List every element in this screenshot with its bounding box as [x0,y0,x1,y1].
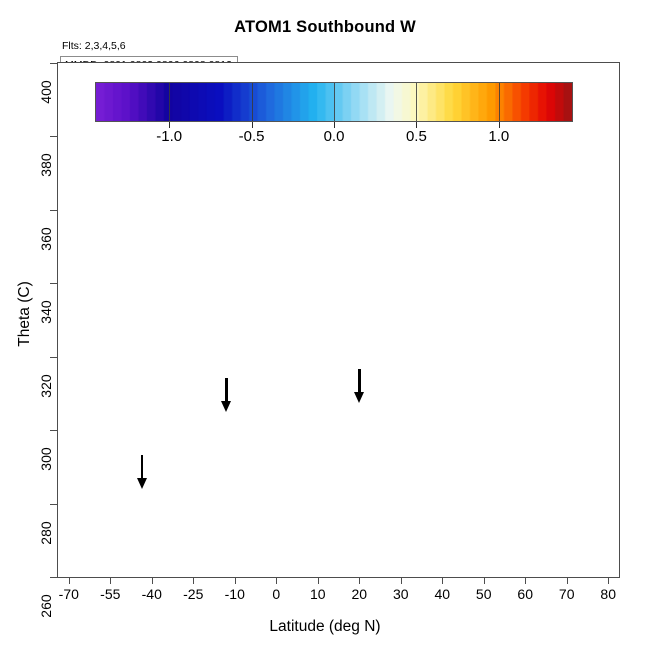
y-tick-label: 320 [38,356,54,416]
x-tick [235,577,236,584]
colorbar-tick-label: 0.5 [386,128,446,145]
plot-root: ATOM1 Southbound W Flts: 2,3,4,5,6 MMDD:… [0,0,650,650]
x-tick [152,577,153,584]
y-tick-label: 340 [38,282,54,342]
colorbar-rule [169,83,170,121]
colorbar-rule [252,83,253,121]
x-tick [401,577,402,584]
y-axis-title: Theta (C) [16,254,34,374]
x-tick [110,577,111,584]
y-tick-label: 360 [38,209,54,269]
colorbar-tick-label: 0.0 [304,128,364,145]
x-tick-label: 80 [580,586,636,602]
colorbar-rule [334,83,335,121]
y-tick-label: 300 [38,429,54,489]
colorbar-tick-label: -1.0 [139,128,199,145]
x-tick [567,577,568,584]
colorbar-rule [499,83,500,121]
x-tick [608,577,609,584]
colorbar-tick-label: -0.5 [222,128,282,145]
x-tick [318,577,319,584]
y-tick-label: 400 [38,62,54,122]
x-tick [276,577,277,584]
y-tick-label: 380 [38,135,54,195]
x-tick [193,577,194,584]
x-tick [442,577,443,584]
x-axis-title: Latitude (deg N) [0,618,650,636]
x-tick [525,577,526,584]
flights-annotation: Flts: 2,3,4,5,6 [62,40,126,52]
colorbar-rule [416,83,417,121]
y-tick-label: 280 [38,503,54,563]
colorbar-tick-label: 1.0 [469,128,529,145]
page-title: ATOM1 Southbound W [0,18,650,37]
x-tick [359,577,360,584]
x-tick [69,577,70,584]
x-tick [484,577,485,584]
